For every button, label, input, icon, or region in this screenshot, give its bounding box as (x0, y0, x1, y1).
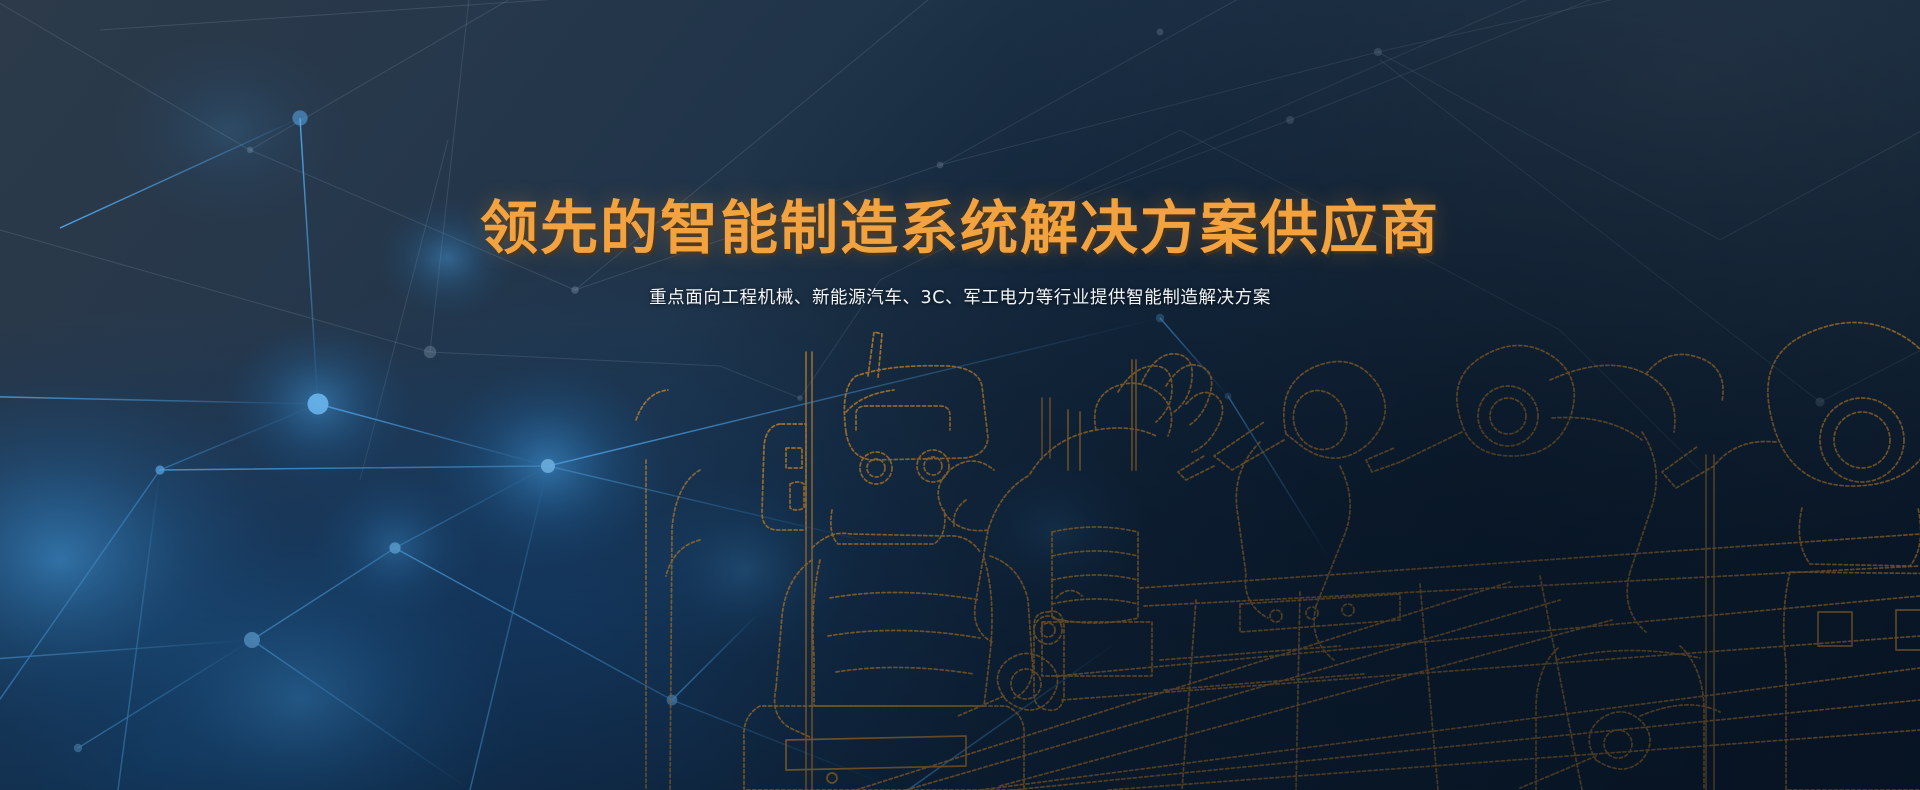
network-glow (0, 35, 1150, 790)
edge-robot (1662, 322, 1920, 790)
small-arm-bottom-right (1520, 705, 1720, 788)
industrial-robot-lineart (0, 0, 1920, 790)
hero-copy: 领先的智能制造系统解决方案供应商 重点面向工程机械、新能源汽车、3C、军工电力等… (0, 198, 1920, 312)
network-overlay-upper (0, 0, 1920, 790)
page-subtitle: 重点面向工程机械、新能源汽车、3C、军工电力等行业提供智能制造解决方案 (0, 285, 1920, 311)
frame-posts (806, 352, 1714, 790)
hero-banner: 领先的智能制造系统解决方案供应商 重点面向工程机械、新能源汽车、3C、军工电力等… (0, 0, 1920, 790)
pedestal-robot-arm-a (1366, 345, 1723, 790)
conveyor-line (856, 527, 1920, 790)
page-title: 领先的智能制造系统解决方案供应商 (0, 198, 1920, 259)
vignette-overlay (0, 0, 1920, 790)
gripper-arm (846, 354, 1223, 642)
small-arm-lower-left (958, 653, 1058, 716)
welding-arm (1178, 362, 1385, 660)
robot-shoulder-left (636, 390, 700, 790)
network-overlay-lower (0, 0, 1920, 790)
bench-machine (1034, 590, 1082, 710)
humanoid-robot (744, 332, 1033, 790)
ceiling-rail (1042, 398, 1050, 458)
